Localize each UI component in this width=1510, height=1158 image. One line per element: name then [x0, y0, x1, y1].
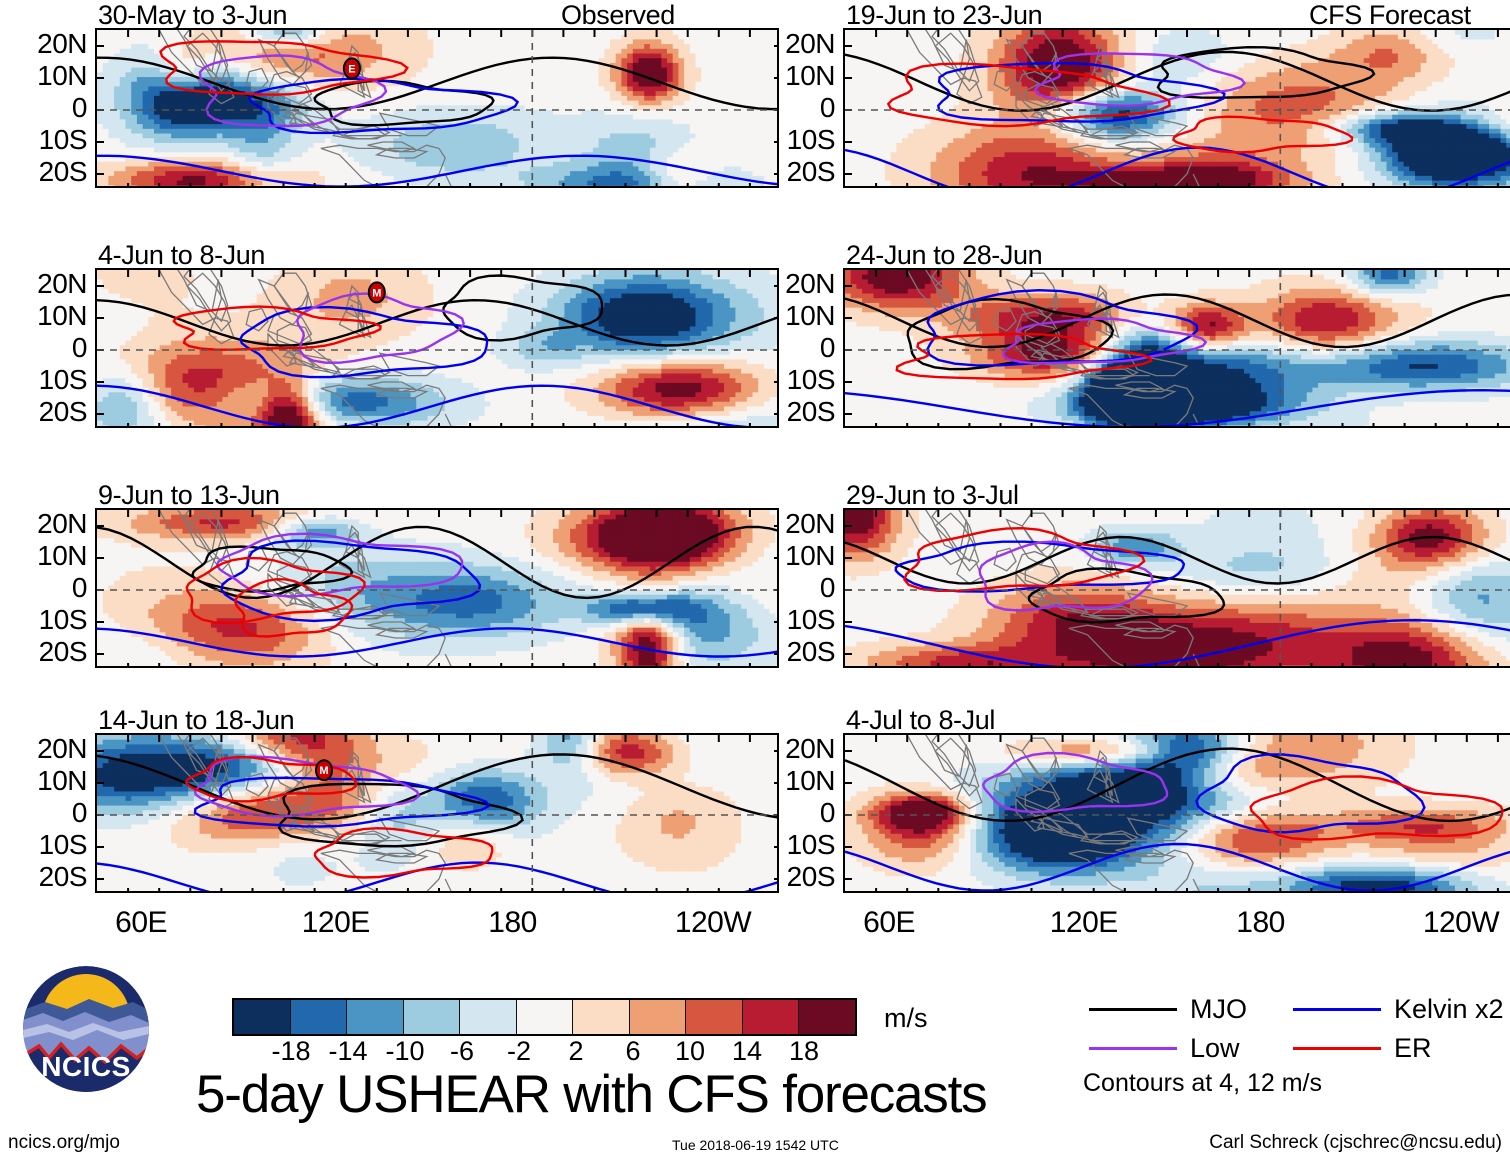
colorbar-swatch — [630, 1000, 687, 1034]
colorbar-tick-label: -14 — [319, 1038, 377, 1065]
legend-item: ER — [1293, 1035, 1432, 1062]
y-axis-tick-label: 10S — [3, 831, 87, 859]
map-axes — [843, 28, 1510, 188]
x-axis-tick-label: 120W — [1423, 908, 1499, 938]
colorbar-swatch — [686, 1000, 743, 1034]
footer-center: Tue 2018-06-19 1542 UTC — [672, 1136, 839, 1155]
colorbar-swatch — [573, 1000, 630, 1034]
colorbar — [232, 998, 857, 1036]
y-axis-tick-label: 20N — [751, 510, 835, 538]
y-axis-tick-label: 20S — [751, 638, 835, 666]
map-axes: M — [95, 268, 779, 428]
panel-title: 4-Jul to 8-Jul — [846, 707, 995, 734]
colorbar-swatch — [743, 1000, 800, 1034]
panel-title: 24-Jun to 28-Jun — [846, 242, 1042, 269]
map-axes — [843, 508, 1510, 668]
legend-item: MJO — [1089, 996, 1247, 1023]
column-header: CFS Forecast — [1309, 2, 1471, 29]
x-axis-tick-label: 180 — [488, 908, 537, 938]
y-axis-tick-label: 0 — [3, 574, 87, 602]
y-axis-tick-label: 10N — [3, 767, 87, 795]
y-axis-tick-label: 0 — [751, 799, 835, 827]
y-axis-tick-label: 10N — [751, 62, 835, 90]
y-axis-tick-label: 10S — [751, 606, 835, 634]
x-axis-tick-label: 60E — [115, 908, 167, 938]
x-axis-tick-label: 120W — [675, 908, 751, 938]
panel-title: 14-Jun to 18-Jun — [98, 707, 294, 734]
y-axis-tick-label: 20N — [751, 270, 835, 298]
y-axis-tick-label: 10S — [751, 366, 835, 394]
y-axis-tick-label: 10S — [3, 606, 87, 634]
x-axis-tick-label: 120E — [302, 908, 370, 938]
y-axis-tick-label: 10S — [751, 126, 835, 154]
colorbar-swatch — [799, 1000, 855, 1034]
map-axes: E — [95, 28, 779, 188]
colorbar-swatch — [234, 1000, 291, 1034]
colorbar-tick-label: 10 — [661, 1038, 719, 1065]
colorbar-tick-label: 14 — [718, 1038, 776, 1065]
legend-label: ER — [1394, 1035, 1432, 1062]
colorbar-swatch — [347, 1000, 404, 1034]
legend-item: Kelvin x2 — [1293, 996, 1504, 1023]
main-title: 5-day USHEAR with CFS forecasts — [196, 1068, 986, 1121]
ncics-logo-text: NCICS — [23, 1051, 149, 1083]
y-axis-tick-label: 20S — [751, 863, 835, 891]
legend-label: Low — [1190, 1035, 1240, 1062]
legend-label: Kelvin x2 — [1394, 996, 1504, 1023]
y-axis-tick-label: 10N — [3, 542, 87, 570]
map-axes — [843, 733, 1510, 893]
x-axis-tick-label: 120E — [1050, 908, 1118, 938]
y-axis-tick-label: 20S — [3, 158, 87, 186]
colorbar-tick-label: 18 — [775, 1038, 833, 1065]
y-axis-tick-label: 10N — [751, 767, 835, 795]
y-axis-tick-label: 10N — [751, 542, 835, 570]
y-axis-tick-label: 20N — [3, 735, 87, 763]
colorbar-tick-label: -10 — [376, 1038, 434, 1065]
x-axis-tick-label: 60E — [863, 908, 915, 938]
panel-title: 19-Jun to 23-Jun — [846, 2, 1042, 29]
colorbar-swatch — [291, 1000, 348, 1034]
colorbar-tick-label: 2 — [547, 1038, 605, 1065]
y-axis-tick-label: 0 — [751, 574, 835, 602]
panel-title: 4-Jun to 8-Jun — [98, 242, 265, 269]
y-axis-tick-label: 0 — [3, 94, 87, 122]
y-axis-tick-label: 0 — [3, 799, 87, 827]
y-axis-tick-label: 20N — [3, 30, 87, 58]
footer-right: Carl Schreck (cjschrec@ncsu.edu) — [1209, 1133, 1502, 1152]
colorbar-tick-label: -6 — [433, 1038, 491, 1065]
colorbar-tick-label: 6 — [604, 1038, 662, 1065]
map-axes — [843, 268, 1510, 428]
column-header: Observed — [561, 2, 675, 29]
legend-line-swatch — [1293, 1008, 1381, 1011]
y-axis-tick-label: 20N — [751, 735, 835, 763]
colorbar-tick-label: -2 — [490, 1038, 548, 1065]
y-axis-tick-label: 0 — [751, 334, 835, 362]
footer-left[interactable]: ncics.org/mjo — [8, 1133, 120, 1152]
x-axis-tick-label: 180 — [1236, 908, 1285, 938]
y-axis-tick-label: 10N — [751, 302, 835, 330]
panel-title: 29-Jun to 3-Jul — [846, 482, 1019, 509]
y-axis-tick-label: 20S — [751, 158, 835, 186]
y-axis-tick-label: 20N — [3, 270, 87, 298]
contour-note: Contours at 4, 12 m/s — [1083, 1071, 1322, 1096]
colorbar-swatch — [460, 1000, 517, 1034]
colorbar-unit-label: m/s — [884, 1005, 928, 1032]
svg-text:E: E — [348, 63, 355, 75]
y-axis-tick-label: 20S — [3, 398, 87, 426]
legend-line-swatch — [1089, 1008, 1177, 1011]
y-axis-tick-label: 0 — [3, 334, 87, 362]
y-axis-tick-label: 10S — [3, 366, 87, 394]
ncics-logo: NCICS — [23, 966, 149, 1092]
map-axes — [95, 508, 779, 668]
y-axis-tick-label: 10S — [751, 831, 835, 859]
y-axis-tick-label: 10S — [3, 126, 87, 154]
legend-label: MJO — [1190, 996, 1247, 1023]
map-axes: M — [95, 733, 779, 893]
colorbar-swatch — [517, 1000, 574, 1034]
y-axis-tick-label: 20S — [3, 863, 87, 891]
y-axis-tick-label: 20N — [3, 510, 87, 538]
y-axis-tick-label: 20S — [751, 398, 835, 426]
y-axis-tick-label: 20S — [3, 638, 87, 666]
panel-title: 30-May to 3-Jun — [98, 2, 287, 29]
legend-line-swatch — [1293, 1047, 1381, 1050]
colorbar-swatch — [404, 1000, 461, 1034]
colorbar-tick-label: -18 — [262, 1038, 320, 1065]
y-axis-tick-label: 10N — [3, 302, 87, 330]
legend-line-swatch — [1089, 1047, 1177, 1050]
legend-item: Low — [1089, 1035, 1240, 1062]
panel-title: 9-Jun to 13-Jun — [98, 482, 280, 509]
y-axis-tick-label: 0 — [751, 94, 835, 122]
y-axis-tick-label: 10N — [3, 62, 87, 90]
y-axis-tick-label: 20N — [751, 30, 835, 58]
